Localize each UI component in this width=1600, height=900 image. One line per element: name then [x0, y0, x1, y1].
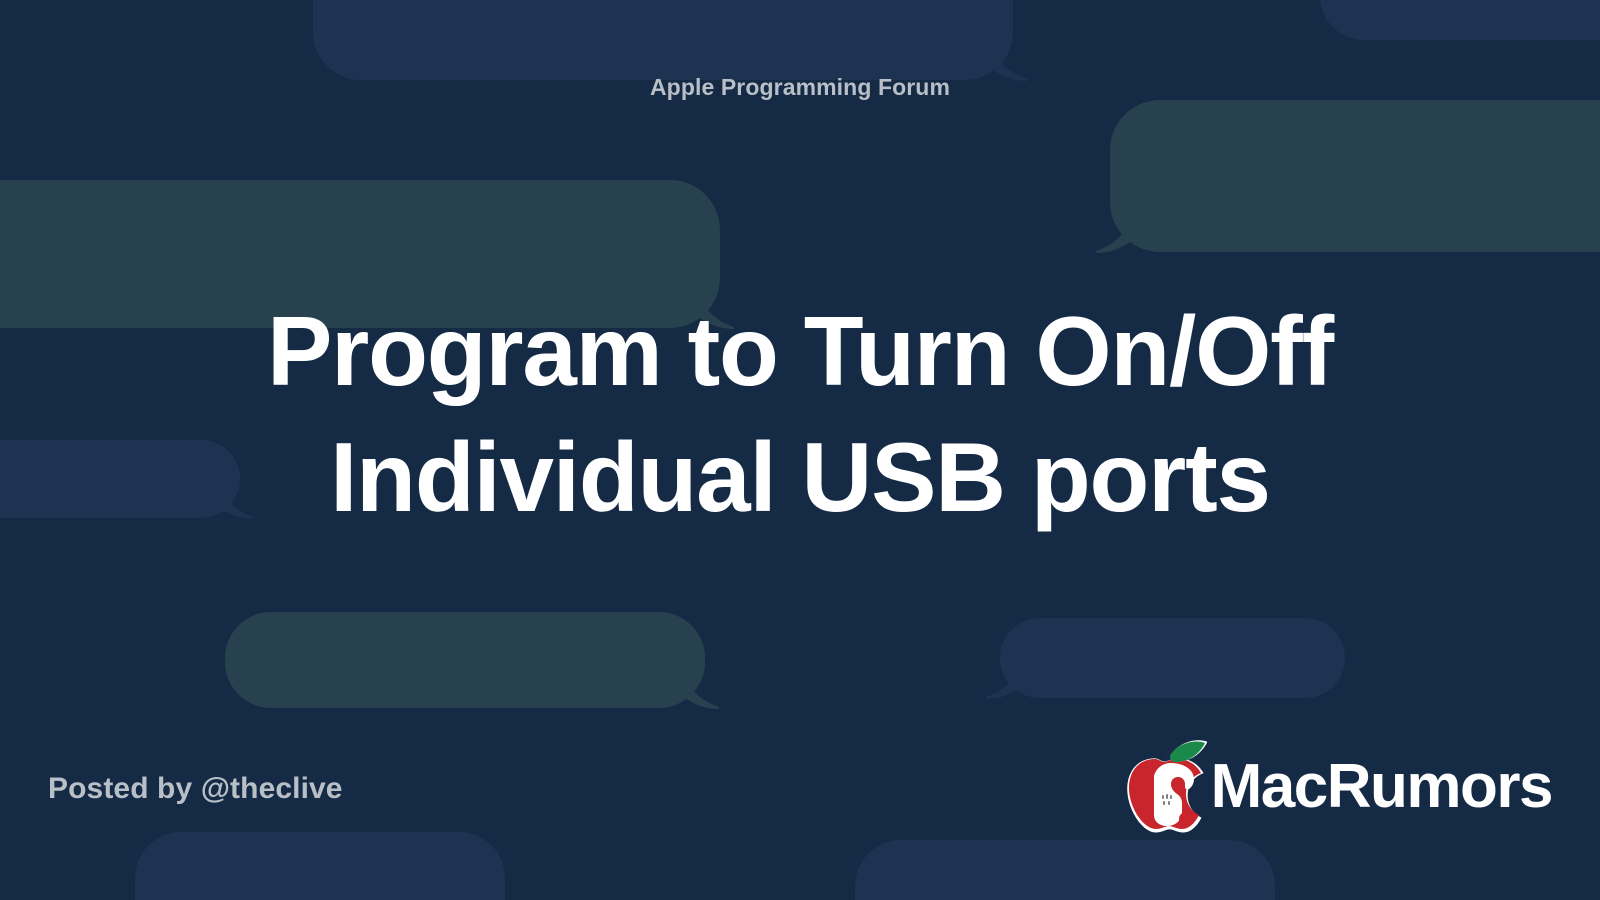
forum-share-banner: Apple Programming Forum Program to Turn … [0, 0, 1600, 900]
bubble-tail [970, 653, 1022, 699]
bubble-top-center [313, 0, 1013, 80]
bubble-bottom-right [855, 840, 1275, 900]
bubble-center-teal [225, 612, 705, 708]
bubble-tail [1080, 207, 1132, 253]
bubble-tail [683, 663, 735, 709]
macrumors-brand-lockup: MacRumors [1125, 735, 1552, 835]
bubble-center-right [1000, 618, 1345, 698]
bubble-bottom-left [135, 832, 505, 900]
brand-wordmark: MacRumors [1211, 756, 1552, 818]
byline-posted-by: Posted by @theclive [48, 772, 343, 806]
bubble-upper-right-teal [1110, 100, 1600, 252]
bubble-top-right [1320, 0, 1600, 40]
forum-name-label: Apple Programming Forum [0, 74, 1600, 101]
page-title: Program to Turn On/Off Individual USB po… [0, 288, 1600, 541]
apple-logo-icon [1125, 737, 1207, 833]
